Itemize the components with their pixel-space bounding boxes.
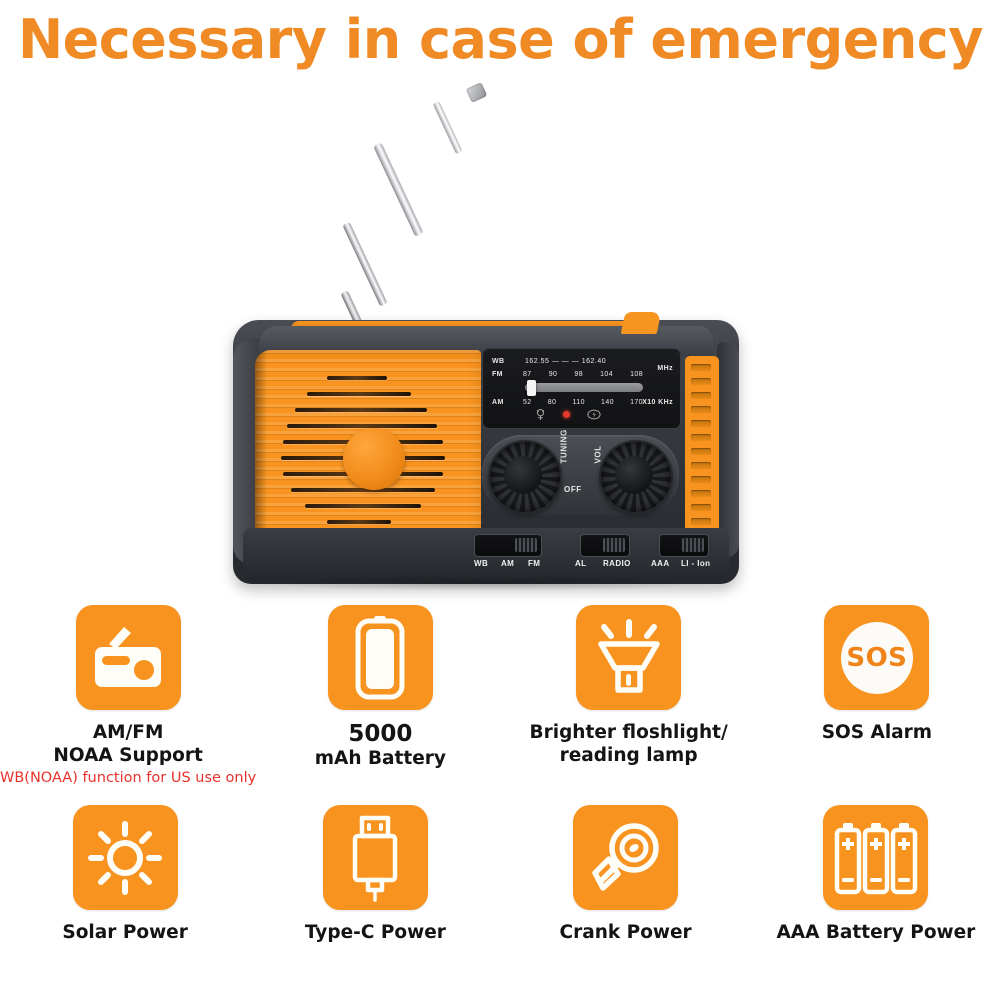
feature-aaa-batteries: AAA Battery Power xyxy=(751,805,1001,944)
grille-slot xyxy=(305,504,421,508)
tuning-scale-bar xyxy=(525,383,643,392)
volume-knob-label: VOL xyxy=(594,448,603,464)
feature-caption: 5000 mAh Battery xyxy=(315,721,446,770)
product-infographic-page: Necessary in case of emergency xyxy=(0,0,1001,1001)
power-switch-label-liion: LI - Ion xyxy=(681,559,710,568)
fm-tick: 90 xyxy=(549,371,558,378)
solar-panel-tab xyxy=(621,312,662,334)
usb-plug-icon xyxy=(346,814,404,902)
feature-tile xyxy=(76,605,181,710)
band-switch[interactable] xyxy=(474,534,542,557)
display-band-fm: FM xyxy=(492,371,503,378)
grille-slot xyxy=(327,376,387,380)
emergency-radio-device: WB FM AM 162.55 — — — 162.40 87 90 98 10… xyxy=(233,320,739,584)
sos-icon: SOS xyxy=(841,622,913,694)
fm-tick: 104 xyxy=(600,371,613,378)
switch-knurl xyxy=(515,538,537,552)
off-label: OFF xyxy=(564,485,582,494)
feature-tile xyxy=(576,605,681,710)
feature-title-line2: NOAA Support xyxy=(53,744,202,767)
feature-tile xyxy=(328,605,433,710)
feature-tile xyxy=(323,805,428,910)
feature-title-line1: AAA Battery Power xyxy=(776,921,975,944)
speaker-grille xyxy=(255,350,481,558)
tuning-knob-label: TUNING xyxy=(560,448,569,464)
power-source-switch[interactable] xyxy=(659,534,709,557)
feature-amfm-noaa: AM/FM NOAA Support WB(NOAA) function for… xyxy=(0,605,256,787)
feature-title-line2: mAh Battery xyxy=(315,747,446,770)
feature-tile: SOS xyxy=(824,605,929,710)
display-unit-khz: X10 KHz xyxy=(642,399,673,406)
charging-icon xyxy=(587,409,601,420)
feature-tile xyxy=(573,805,678,910)
feature-title-line1: Solar Power xyxy=(62,921,187,944)
bottom-control-bar: WB AM FM AL RADIO AAA LI - Ion xyxy=(243,528,729,582)
feature-grid: AM/FM NOAA Support WB(NOAA) function for… xyxy=(0,605,1001,1001)
feature-title-line2: reading lamp xyxy=(530,744,728,767)
page-title: Necessary in case of emergency xyxy=(0,8,1001,71)
control-knob-plate: TUNING VOL OFF xyxy=(482,435,679,515)
feature-title-line1: 5000 xyxy=(315,721,446,747)
telescopic-antenna[interactable] xyxy=(362,87,522,329)
grille-shading xyxy=(255,350,267,558)
side-vent-panel xyxy=(685,356,719,556)
am-tick: 80 xyxy=(548,399,557,406)
mode-switch-label-al: AL xyxy=(575,559,586,568)
feature-typec: Type-C Power xyxy=(250,805,500,944)
display-unit-mhz: MHz xyxy=(657,365,673,372)
am-tick: 170 xyxy=(630,399,643,406)
mode-switch[interactable] xyxy=(580,534,630,557)
battery-icon xyxy=(354,616,406,700)
grille-slot xyxy=(291,488,435,492)
antenna-segment xyxy=(373,142,423,236)
radio-right-bevel xyxy=(717,342,739,558)
feature-caption: SOS Alarm xyxy=(822,721,932,744)
flashlight-icon xyxy=(591,618,667,698)
antenna-segment xyxy=(433,101,463,155)
band-switch-label-am: AM xyxy=(501,559,514,568)
feature-row-2: Solar Power Type-C Power xyxy=(0,805,1001,944)
radio-icon xyxy=(91,625,165,691)
feature-caption: Solar Power xyxy=(62,921,187,944)
feature-caption: Brighter floshlight/ reading lamp xyxy=(530,721,728,767)
display-wb-range: 162.55 — — — 162.40 xyxy=(525,358,606,365)
display-band-wb: WB xyxy=(492,358,504,365)
am-tick: 110 xyxy=(573,399,585,406)
feature-tile xyxy=(823,805,928,910)
feature-flashlight: Brighter floshlight/ reading lamp xyxy=(504,605,752,787)
band-switch-label-wb: WB xyxy=(474,559,488,568)
feature-caption: Crank Power xyxy=(560,921,692,944)
band-switch-label-fm: FM xyxy=(528,559,540,568)
grille-slot xyxy=(307,392,411,396)
fm-tick: 87 xyxy=(523,371,532,378)
noaa-disclaimer: WB(NOAA) function for US use only xyxy=(0,770,256,787)
aaa-batteries-icon xyxy=(833,820,919,896)
grille-slot xyxy=(287,424,437,428)
fm-tick: 98 xyxy=(574,371,583,378)
power-switch-label-aaa: AAA xyxy=(651,559,670,568)
tuning-pointer xyxy=(527,380,536,396)
speaker-center-boss xyxy=(343,428,405,490)
am-tick: 140 xyxy=(601,399,614,406)
feature-title-line1: SOS Alarm xyxy=(822,721,932,744)
feature-title-line1: Crank Power xyxy=(560,921,692,944)
switch-knurl xyxy=(603,538,625,552)
display-band-am: AM xyxy=(492,399,504,406)
volume-knob[interactable] xyxy=(599,440,673,514)
product-shadow xyxy=(250,575,720,591)
feature-caption: Type-C Power xyxy=(305,921,446,944)
feature-title-line1: Brighter floshlight/ xyxy=(530,721,728,744)
antenna-tip xyxy=(466,82,488,103)
tuning-knob[interactable] xyxy=(488,440,562,514)
fm-tick: 108 xyxy=(630,371,643,378)
feature-sos: SOS SOS Alarm xyxy=(753,605,1001,787)
product-image: WB FM AM 162.55 — — — 162.40 87 90 98 10… xyxy=(0,80,1001,600)
feature-tile xyxy=(73,805,178,910)
feature-title-line1: Type-C Power xyxy=(305,921,446,944)
sun-icon xyxy=(85,818,165,898)
tuning-indicator-icon xyxy=(535,408,546,421)
feature-battery: 5000 mAh Battery xyxy=(256,605,504,787)
switch-knurl xyxy=(682,538,704,552)
display-fm-scale: 87 90 98 104 108 xyxy=(523,371,643,378)
am-tick: 52 xyxy=(523,399,532,406)
feature-caption: AM/FM NOAA Support xyxy=(53,721,202,767)
feature-row-1: AM/FM NOAA Support WB(NOAA) function for… xyxy=(0,605,1001,787)
power-led-icon xyxy=(563,411,570,418)
tuning-display-panel: WB FM AM 162.55 — — — 162.40 87 90 98 10… xyxy=(482,348,681,429)
mode-switch-label-radio: RADIO xyxy=(603,559,631,568)
grille-slot xyxy=(327,520,391,524)
crank-icon xyxy=(587,819,665,897)
feature-caption: AAA Battery Power xyxy=(776,921,975,944)
display-indicator-row xyxy=(535,408,601,421)
grille-slot xyxy=(295,408,427,412)
feature-title-line1: AM/FM xyxy=(53,721,202,744)
display-am-scale: 52 80 110 140 170 xyxy=(523,399,643,406)
feature-crank: Crank Power xyxy=(501,805,751,944)
feature-solar: Solar Power xyxy=(0,805,250,944)
